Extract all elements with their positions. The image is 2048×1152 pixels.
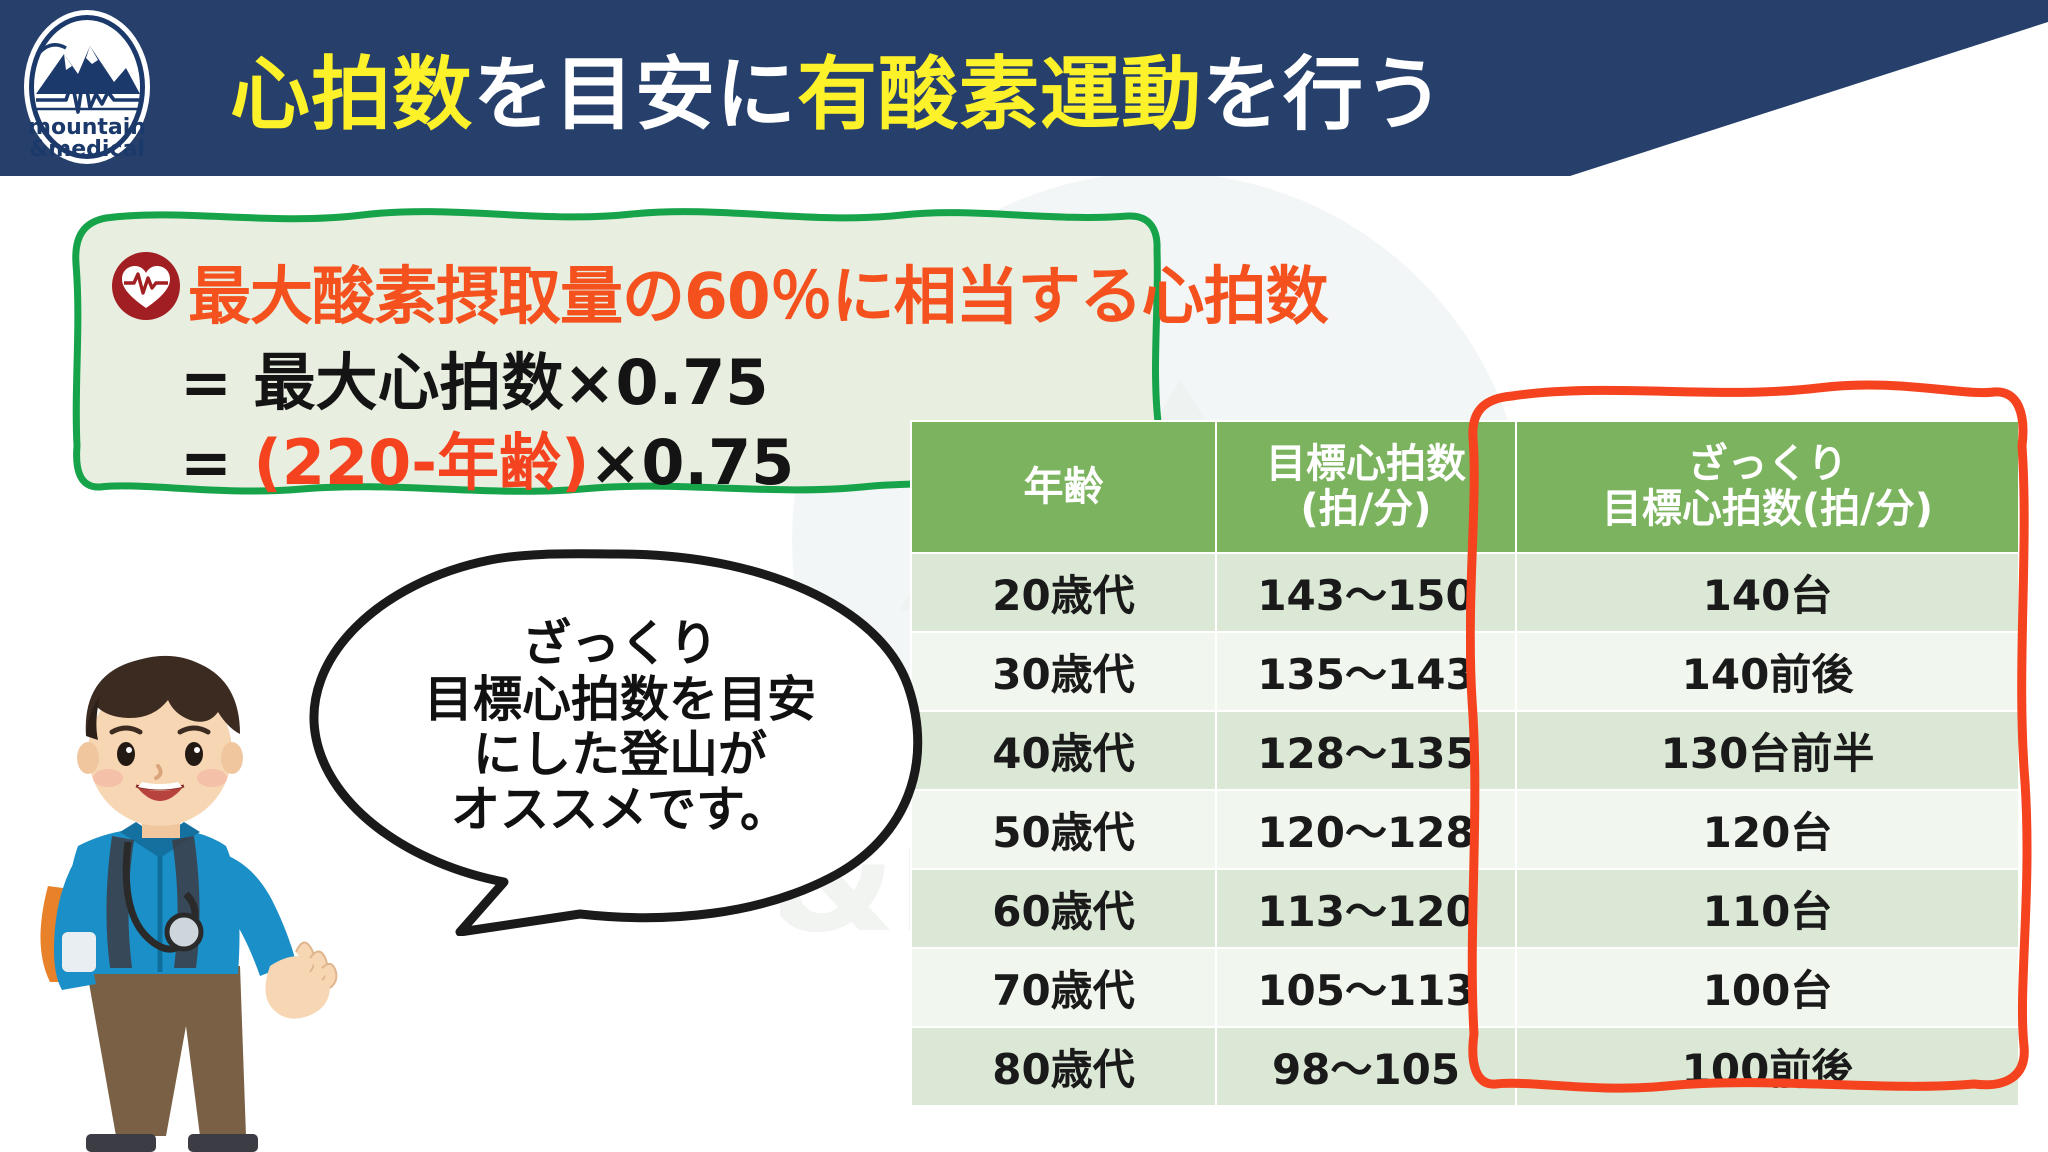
column-header-target-sub: (拍/分): [1300, 486, 1431, 532]
column-header-rough-sub: 目標心拍数(拍/分): [1602, 486, 1933, 532]
cell-rough: 140台: [1516, 553, 2019, 632]
cell-age: 80歳代: [911, 1027, 1216, 1106]
table-body: 20歳代 143〜150 140台 30歳代 135〜143 140前後 40歳…: [911, 553, 2019, 1106]
title-segment-5: 有酸素運動: [797, 30, 1202, 146]
bubble-line-3: にした登山が: [473, 727, 767, 782]
column-header-target-label: 目標心拍数: [1266, 441, 1466, 487]
table-row: 50歳代 120〜128 120台: [911, 790, 2019, 869]
cell-target: 128〜135: [1216, 711, 1516, 790]
cell-age: 30歳代: [911, 632, 1216, 711]
formula-line3-suffix: ×0.75: [589, 426, 794, 499]
page-title: 心拍数 を 目安 に 有酸素運動 を行う: [230, 0, 1445, 176]
cell-target: 105〜113: [1216, 948, 1516, 1027]
cell-age: 70歳代: [911, 948, 1216, 1027]
cell-rough: 130台前半: [1516, 711, 2019, 790]
table-row: 40歳代 128〜135 130台前半: [911, 711, 2019, 790]
formula-line-3: = (220-年齢)×0.75: [180, 412, 794, 502]
title-segment-6: を行う: [1202, 30, 1445, 146]
mountain-ecg-logo-icon: mountain &medical: [22, 8, 152, 166]
table-row: 70歳代 105〜113 100台: [911, 948, 2019, 1027]
cell-age: 40歳代: [911, 711, 1216, 790]
cell-rough: 140前後: [1516, 632, 2019, 711]
cell-rough: 110台: [1516, 869, 2019, 948]
speech-bubble: ざっくり 目標心拍数を目安 にした登山が オススメです。: [290, 546, 940, 936]
cell-rough: 120台: [1516, 790, 2019, 869]
cell-rough: 100前後: [1516, 1027, 2019, 1106]
heart-rate-table: 年齢 目標心拍数 (拍/分) ざっくり 目標心拍数(拍/分) 20歳代 143〜…: [910, 420, 2020, 1107]
cell-age: 60歳代: [911, 869, 1216, 948]
table-row: 20歳代 143〜150 140台: [911, 553, 2019, 632]
title-segment-3: 目安: [554, 30, 716, 146]
column-header-target: 目標心拍数 (拍/分): [1216, 421, 1516, 553]
formula-line3-red: (220-年齢): [254, 426, 590, 499]
column-header-rough-label: ざっくり: [1688, 441, 1848, 487]
logo-text-line2: &medical: [29, 137, 145, 162]
formula-line3-prefix: =: [180, 426, 254, 499]
bubble-line-1: ざっくり: [522, 616, 718, 671]
table-header-row: 年齢 目標心拍数 (拍/分) ざっくり 目標心拍数(拍/分): [911, 421, 2019, 553]
cell-target: 98〜105: [1216, 1027, 1516, 1106]
formula-line-2: = 最大心拍数×0.75: [180, 332, 768, 422]
speech-bubble-text: ざっくり 目標心拍数を目安 にした登山が オススメです。: [290, 546, 940, 936]
cell-target: 120〜128: [1216, 790, 1516, 869]
bubble-line-4: オススメです。: [451, 782, 789, 837]
heart-pulse-icon: [110, 250, 182, 322]
cell-age: 50歳代: [911, 790, 1216, 869]
table-row: 80歳代 98〜105 100前後: [911, 1027, 2019, 1106]
column-header-rough: ざっくり 目標心拍数(拍/分): [1516, 421, 2019, 553]
cell-target: 113〜120: [1216, 869, 1516, 948]
table-row: 30歳代 135〜143 140前後: [911, 632, 2019, 711]
column-header-age-label: 年齢: [1024, 464, 1104, 510]
cell-rough: 100台: [1516, 948, 2019, 1027]
cell-target: 143〜150: [1216, 553, 1516, 632]
title-segment-2: を: [473, 30, 554, 146]
title-segment-4: に: [716, 30, 797, 146]
heart-rate-table-container: 年齢 目標心拍数 (拍/分) ざっくり 目標心拍数(拍/分) 20歳代 143〜…: [910, 420, 2018, 1110]
title-segment-1: 心拍数: [230, 30, 473, 146]
formula-heading: 最大酸素摂取量の60％に相当する心拍数: [188, 246, 1328, 337]
header-banner: mountain &medical 心拍数 を 目安 に 有酸素運動 を行う: [0, 0, 2048, 176]
table-row: 60歳代 113〜120 110台: [911, 869, 2019, 948]
bubble-line-2: 目標心拍数を目安: [424, 672, 816, 727]
cell-age: 20歳代: [911, 553, 1216, 632]
cell-target: 135〜143: [1216, 632, 1516, 711]
column-header-age: 年齢: [911, 421, 1216, 553]
